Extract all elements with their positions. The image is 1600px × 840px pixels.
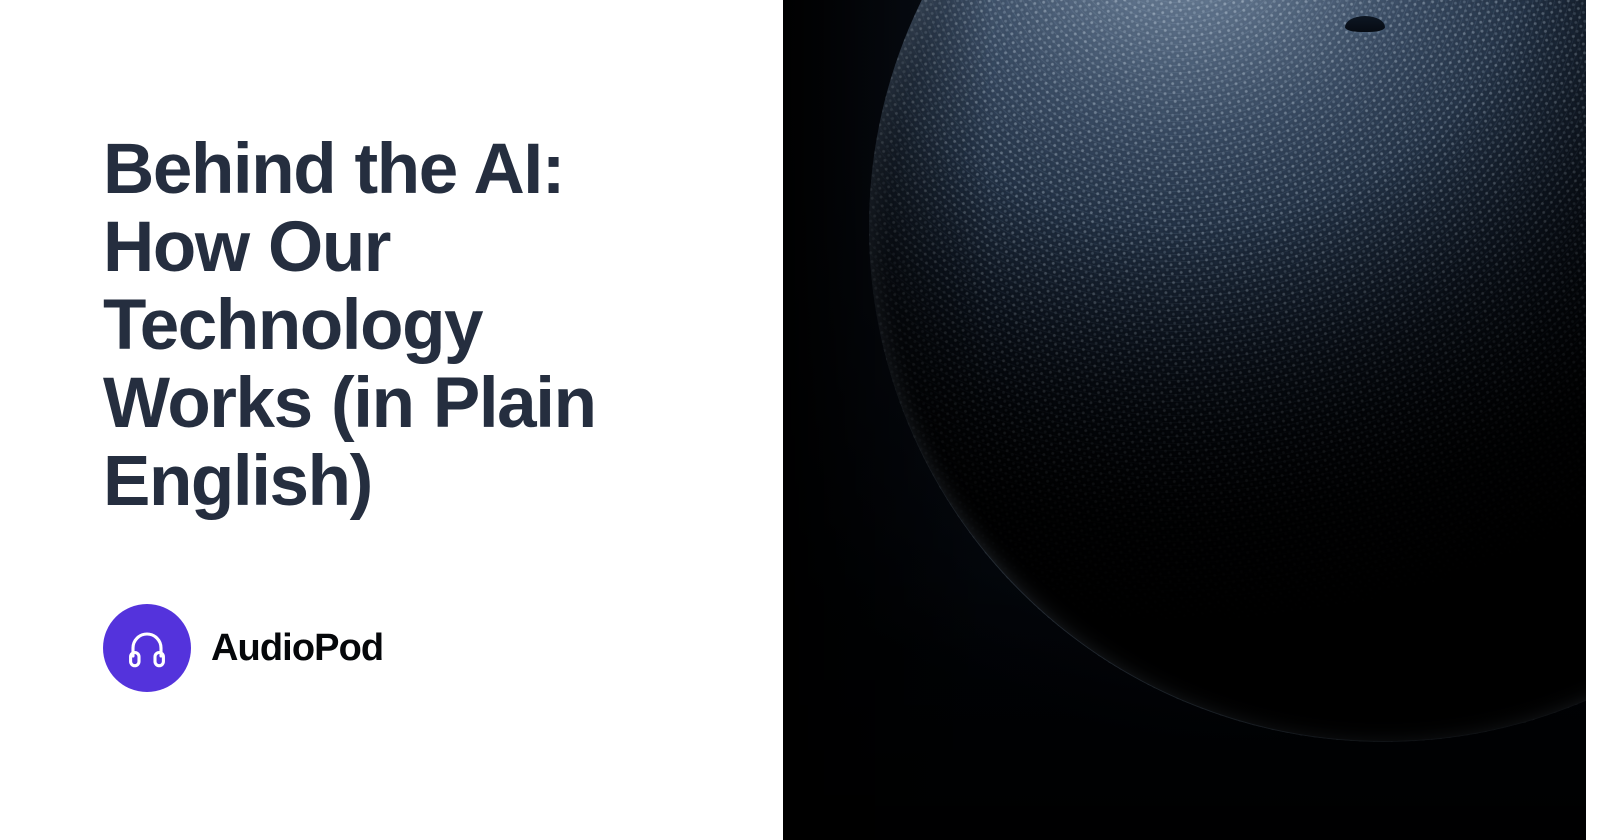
text-panel: Behind the AI: How Our Technology Works …	[0, 0, 783, 840]
brand-name: AudioPod	[211, 627, 383, 670]
brand-lockup: AudioPod	[103, 604, 383, 692]
headphones-icon	[122, 623, 172, 673]
text-panel-content: Behind the AI: How Our Technology Works …	[103, 0, 723, 840]
podcast-episode-cover: Behind the AI: How Our Technology Works …	[0, 0, 1600, 840]
speaker-top-notch	[1345, 16, 1385, 32]
image-panel	[783, 0, 1600, 840]
brand-logo-badge	[103, 604, 191, 692]
episode-title: Behind the AI: How Our Technology Works …	[103, 131, 663, 521]
speaker-photo	[783, 0, 1586, 840]
